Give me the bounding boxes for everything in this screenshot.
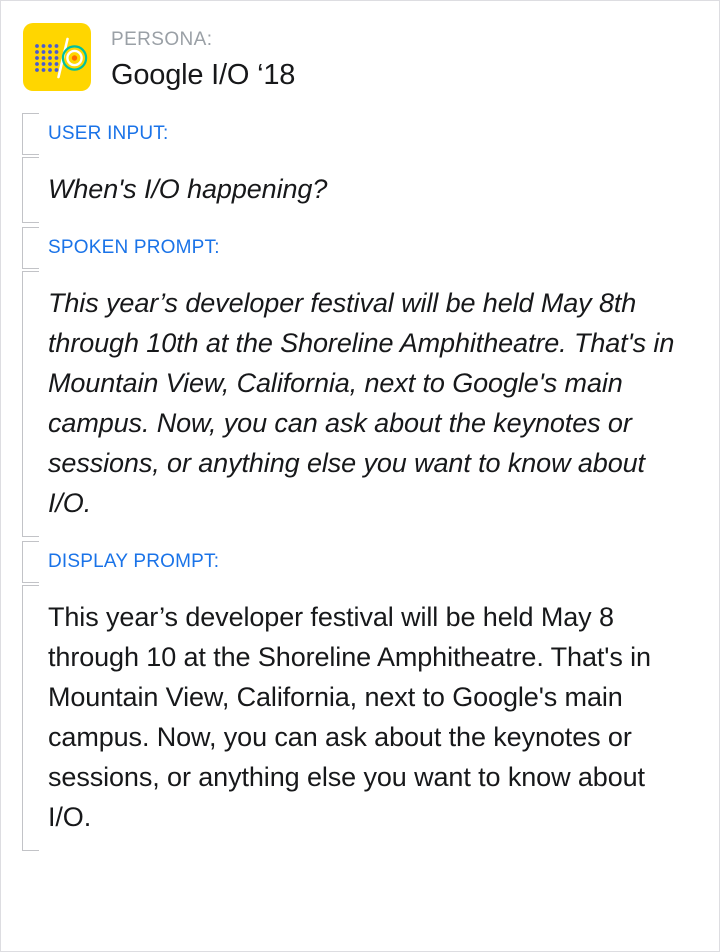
prompt-sections: USER INPUT: When's I/O happening? SPOKEN… <box>1 95 719 851</box>
section-spoken-prompt: SPOKEN PROMPT: This year’s developer fes… <box>1 227 719 537</box>
spoken-prompt-text: This year’s developer festival will be h… <box>48 283 719 523</box>
bracket-tick-bottom <box>22 268 39 269</box>
spoken-prompt-body-bracket: This year’s developer festival will be h… <box>22 271 719 537</box>
user-input-text: When's I/O happening? <box>48 169 719 209</box>
persona-card: PERSONA: Google I/O ‘18 USER INPUT: When… <box>0 0 720 952</box>
user-input-label-bracket: USER INPUT: <box>22 113 719 155</box>
display-prompt-label-bracket: DISPLAY PROMPT: <box>22 541 719 583</box>
spoken-prompt-label-bracket: SPOKEN PROMPT: <box>22 227 719 269</box>
persona-label: PERSONA: <box>111 27 295 53</box>
display-prompt-label: DISPLAY PROMPT: <box>48 550 719 574</box>
section-display-prompt: DISPLAY PROMPT: This year’s developer fe… <box>1 541 719 851</box>
bracket-tick-top <box>22 541 39 542</box>
bracket-tick-bottom <box>22 536 39 537</box>
spoken-prompt-label: SPOKEN PROMPT: <box>48 236 719 260</box>
bracket-tick-bottom <box>22 582 39 583</box>
bracket-tick-bottom <box>22 850 39 851</box>
section-user-input: USER INPUT: When's I/O happening? <box>1 113 719 223</box>
bracket-tick-bottom <box>22 222 39 223</box>
persona-name: Google I/O ‘18 <box>111 55 295 95</box>
bracket-tick-top <box>22 113 39 114</box>
persona-header-text: PERSONA: Google I/O ‘18 <box>111 23 295 95</box>
user-input-label: USER INPUT: <box>48 122 719 146</box>
bracket-tick-top <box>22 271 39 272</box>
display-prompt-body-bracket: This year’s developer festival will be h… <box>22 585 719 851</box>
user-input-body-bracket: When's I/O happening? <box>22 157 719 223</box>
bracket-tick-top <box>22 227 39 228</box>
bracket-tick-top <box>22 157 39 158</box>
google-io-logo-icon <box>23 23 91 91</box>
bracket-tick-top <box>22 585 39 586</box>
bracket-tick-bottom <box>22 154 39 155</box>
persona-header: PERSONA: Google I/O ‘18 <box>1 1 719 95</box>
display-prompt-text: This year’s developer festival will be h… <box>48 597 719 837</box>
